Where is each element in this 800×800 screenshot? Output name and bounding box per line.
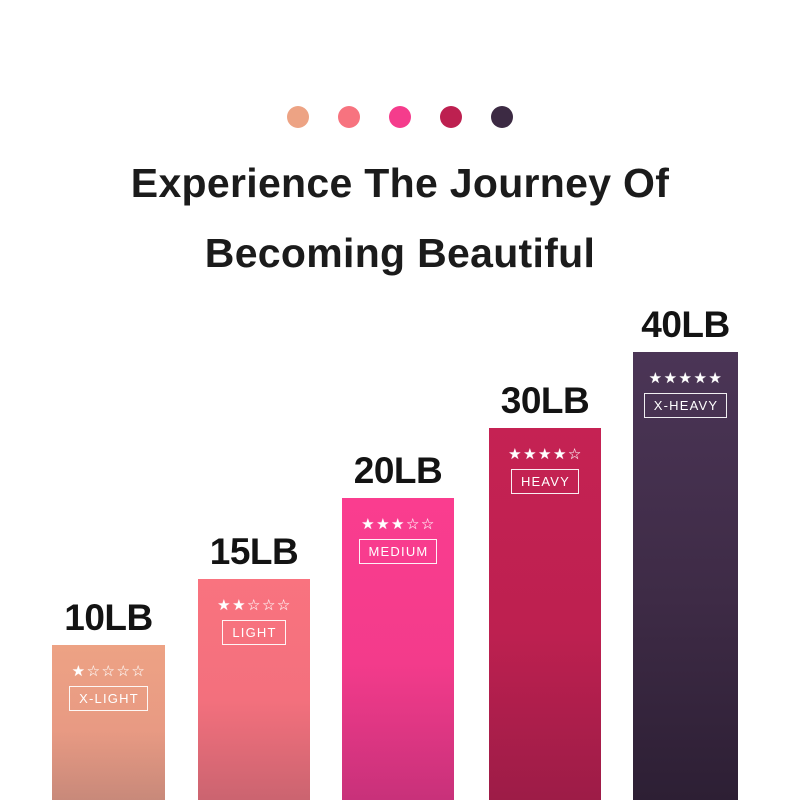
- star-filled-icon: ★: [361, 517, 375, 532]
- bar-badge-stack: ★★★☆☆MEDIUM: [342, 498, 454, 800]
- star-rating: ★★★★☆: [508, 447, 582, 462]
- bar-badge-stack: ★★☆☆☆LIGHT: [198, 579, 310, 800]
- star-filled-icon: ★: [508, 447, 522, 462]
- star-empty-icon: ☆: [131, 664, 145, 679]
- bar-value-label: 40LB: [641, 304, 729, 346]
- star-empty-icon: ☆: [262, 598, 276, 613]
- star-filled-icon: ★: [217, 598, 231, 613]
- star-filled-icon: ★: [553, 447, 567, 462]
- bar: ★★★☆☆MEDIUM: [342, 498, 454, 800]
- resistance-band-bar-chart: 10LB★☆☆☆☆X-LIGHT15LB★★☆☆☆LIGHT20LB★★★☆☆M…: [0, 0, 800, 800]
- star-rating: ★★★★★: [649, 371, 723, 386]
- grade-badge: LIGHT: [222, 620, 285, 645]
- star-filled-icon: ★: [649, 371, 663, 386]
- star-empty-icon: ☆: [87, 664, 101, 679]
- bar-value-label: 15LB: [210, 531, 298, 573]
- bar-value-label: 10LB: [64, 597, 152, 639]
- bar-badge-stack: ★★★★☆HEAVY: [489, 428, 601, 800]
- star-rating: ★☆☆☆☆: [72, 664, 146, 679]
- bar-value-label: 30LB: [501, 380, 589, 422]
- star-filled-icon: ★: [376, 517, 390, 532]
- bar-group-medium[interactable]: 20LB★★★☆☆MEDIUM: [342, 498, 454, 800]
- star-filled-icon: ★: [679, 371, 693, 386]
- promo-banner: Experience The Journey Of Becoming Beaut…: [0, 0, 800, 800]
- star-filled-icon: ★: [664, 371, 678, 386]
- star-empty-icon: ☆: [116, 664, 130, 679]
- star-empty-icon: ☆: [102, 664, 116, 679]
- bar-badge-stack: ★★★★★X-HEAVY: [633, 352, 738, 800]
- star-filled-icon: ★: [72, 664, 86, 679]
- star-empty-icon: ☆: [247, 598, 261, 613]
- bar: ★★★★☆HEAVY: [489, 428, 601, 800]
- bar: ★★☆☆☆LIGHT: [198, 579, 310, 800]
- bar: ★★★★★X-HEAVY: [633, 352, 738, 800]
- bar-value-label: 20LB: [354, 450, 442, 492]
- star-filled-icon: ★: [523, 447, 537, 462]
- star-rating: ★★☆☆☆: [217, 598, 291, 613]
- star-filled-icon: ★: [391, 517, 405, 532]
- grade-badge: X-LIGHT: [69, 686, 148, 711]
- star-filled-icon: ★: [538, 447, 552, 462]
- star-filled-icon: ★: [708, 371, 722, 386]
- star-empty-icon: ☆: [421, 517, 435, 532]
- grade-badge: HEAVY: [511, 469, 579, 494]
- grade-badge: X-HEAVY: [644, 393, 728, 418]
- star-empty-icon: ☆: [277, 598, 291, 613]
- star-filled-icon: ★: [693, 371, 707, 386]
- star-filled-icon: ★: [232, 598, 246, 613]
- bar-badge-stack: ★☆☆☆☆X-LIGHT: [52, 645, 165, 800]
- bar-group-x-heavy[interactable]: 40LB★★★★★X-HEAVY: [633, 352, 738, 800]
- bar-group-heavy[interactable]: 30LB★★★★☆HEAVY: [489, 428, 601, 800]
- grade-badge: MEDIUM: [359, 539, 438, 564]
- bar: ★☆☆☆☆X-LIGHT: [52, 645, 165, 800]
- bar-group-light[interactable]: 15LB★★☆☆☆LIGHT: [198, 579, 310, 800]
- star-empty-icon: ☆: [568, 447, 582, 462]
- star-rating: ★★★☆☆: [361, 517, 435, 532]
- star-empty-icon: ☆: [406, 517, 420, 532]
- bar-group-x-light[interactable]: 10LB★☆☆☆☆X-LIGHT: [52, 645, 165, 800]
